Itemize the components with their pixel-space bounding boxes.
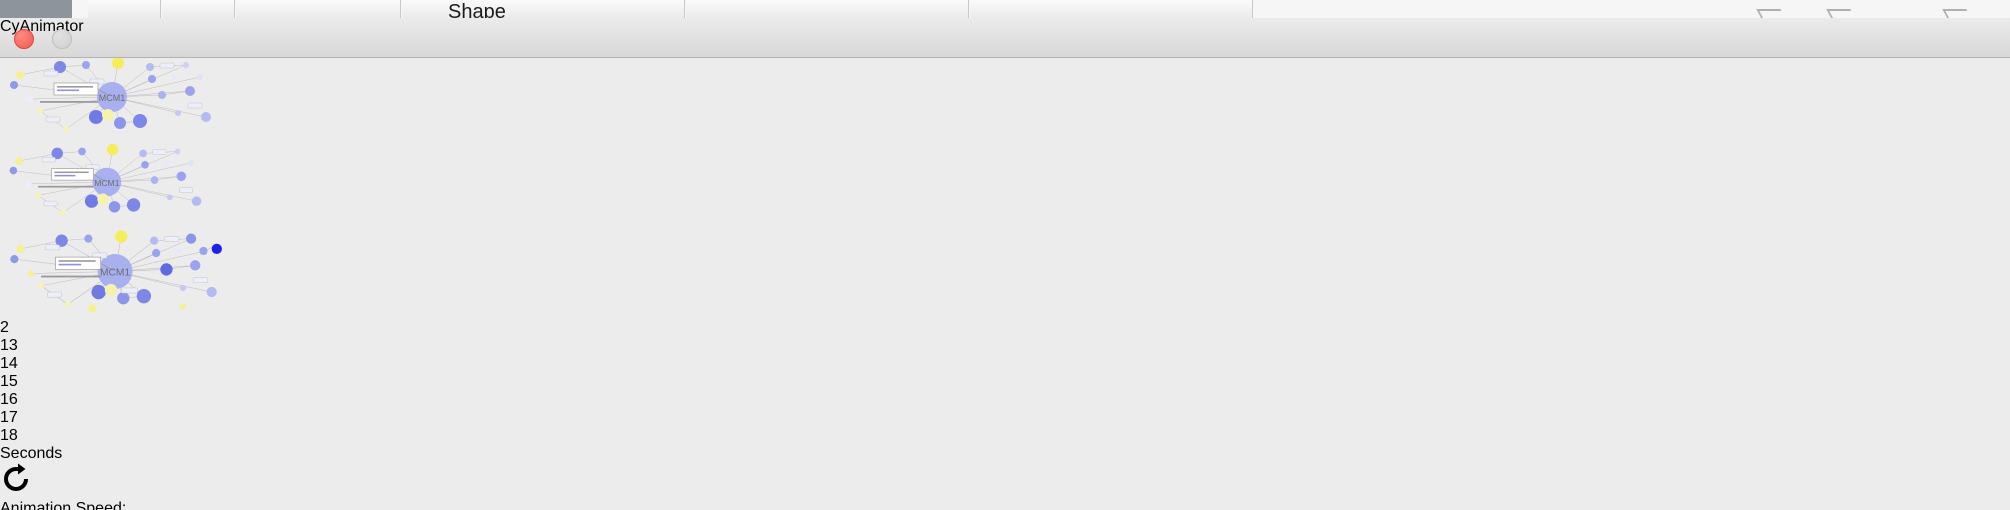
playback-controls: Animation Speed: <box>0 463 2010 510</box>
network-hub-label: MCM1 <box>94 178 119 188</box>
cyanimator-window: Shape CyAnimator Clear All Frames <box>0 0 2010 510</box>
background-column-5 <box>686 0 969 18</box>
timeline-frame-3[interactable]: MCM1 <box>0 225 224 319</box>
network-thumbnail: MCM1 <box>0 225 224 319</box>
background-window-strip: Shape <box>0 0 2010 19</box>
background-column-6 <box>970 0 1253 18</box>
ruler-label: 16 <box>0 391 2010 409</box>
ruler-label: 14 <box>0 355 2010 373</box>
background-column-3 <box>236 0 401 18</box>
background-column-1 <box>88 0 161 18</box>
ruler-label: 13 <box>0 337 2010 355</box>
network-hub-label: MCM1 <box>100 268 131 279</box>
network-thumbnail: MCM1 <box>0 140 208 225</box>
network-hub-label: MCM1 <box>99 93 126 103</box>
timeline-axis-title: Seconds <box>0 445 2010 463</box>
network-thumbnail: MCM1 <box>0 55 218 140</box>
background-column-4 <box>402 0 685 18</box>
background-column-2 <box>162 0 235 18</box>
timeline-frame-1[interactable]: MCM1 <box>0 55 218 140</box>
loop-icon <box>0 463 32 495</box>
title-bar: CyAnimator <box>0 18 2010 58</box>
animation-speed-label: Animation Speed: <box>0 500 2010 510</box>
ruler-label: 15 <box>0 373 2010 391</box>
timeline-panel[interactable]: MCM1 <box>0 55 2010 463</box>
maximize-window-button[interactable] <box>0 29 18 47</box>
timeline-ruler[interactable]: 2 13 14 15 16 17 18 <box>0 319 2010 445</box>
ruler-label: 2 <box>0 319 2010 337</box>
loop-button[interactable] <box>0 463 126 500</box>
ruler-label: 18 <box>0 427 2010 445</box>
minimize-window-button[interactable] <box>52 29 72 49</box>
background-shape-label: Shape <box>448 1 506 19</box>
ruler-label: 17 <box>0 409 2010 427</box>
background-window-dark-segment <box>0 0 72 18</box>
timeline-frame-2[interactable]: MCM1 <box>0 140 208 225</box>
window-title: CyAnimator <box>0 18 2010 36</box>
